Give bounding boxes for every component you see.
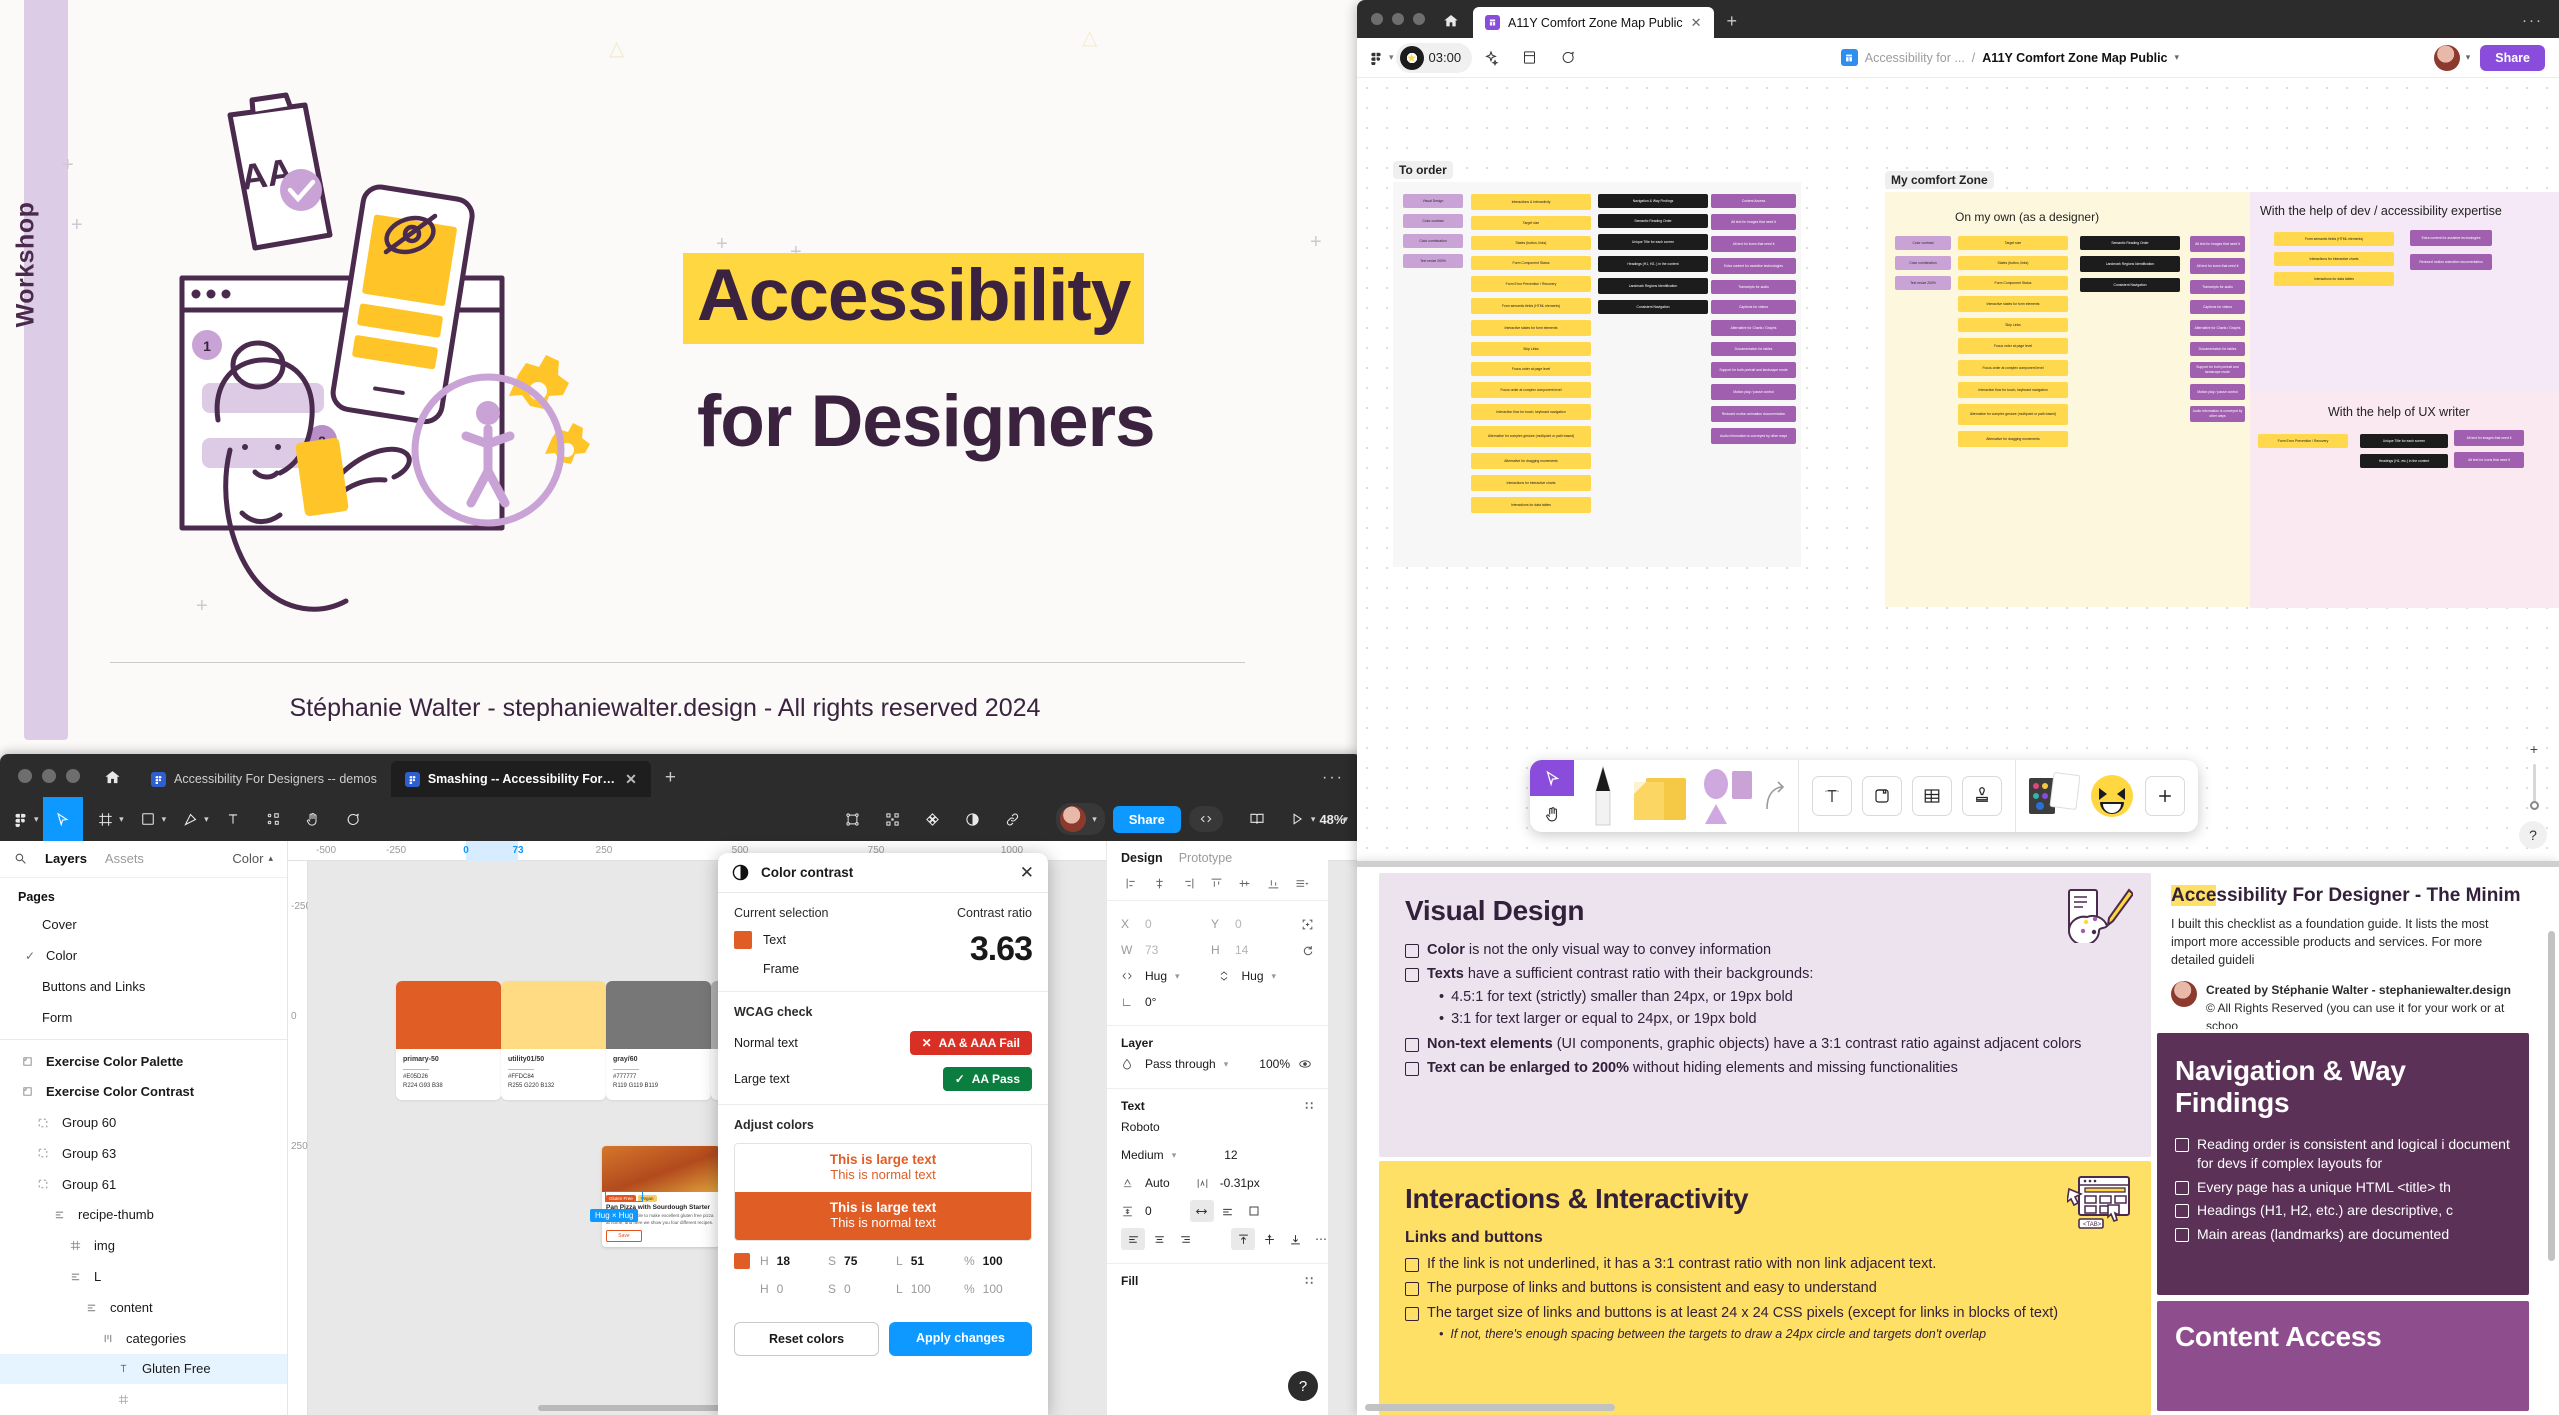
sticky-note[interactable]: Interaction flow for touch, keyboard nav… [1471, 404, 1591, 420]
sticky-note[interactable]: Transcripts for audio [1711, 280, 1796, 294]
chevron-down-icon[interactable]: ▾ [1389, 52, 1394, 63]
sticky-note[interactable]: Audio information is conveyed by other w… [1711, 428, 1796, 444]
y-field[interactable]: Y0 [1211, 911, 1301, 937]
sticky-note[interactable]: Motion play / pause control [1711, 384, 1796, 400]
shapes-tool-icon[interactable] [1702, 766, 1754, 826]
blend-mode-value[interactable]: Pass through [1145, 1057, 1216, 1071]
reset-colors-button[interactable]: Reset colors [734, 1322, 879, 1356]
sticky-note[interactable]: Skip Links [1958, 318, 2068, 332]
alignment-toolbar[interactable] [1107, 873, 1328, 901]
sticky-note[interactable]: Semantic Reading Order [1598, 214, 1708, 228]
checklist-item[interactable]: Main areas (landmarks) are documented [2175, 1225, 2511, 1244]
blend-opacity-row[interactable]: Pass through ▾ 100% [1121, 1050, 1314, 1078]
sticky-note[interactable]: Color contrast [1403, 214, 1463, 228]
rotation-value[interactable]: 0° [1145, 995, 1156, 1009]
sticky-note[interactable]: Alternative for dragging movements [1958, 431, 2068, 447]
figma-tab-1[interactable]: Accessibility For Designers -- demos [137, 761, 391, 797]
widgets-icon[interactable] [2028, 772, 2080, 820]
chevron-down-icon[interactable]: ▾ [2466, 52, 2471, 63]
sticky-note[interactable]: Interactions for interactive charts [2274, 252, 2394, 266]
frame-my-comfort-zone[interactable]: My comfort Zone On my own (as a designer… [1885, 192, 2250, 607]
sticky-note[interactable]: Consistent Navigation [1598, 300, 1708, 314]
plus-icon[interactable] [2145, 776, 2185, 816]
sat-value[interactable]: 75 [844, 1254, 857, 1268]
layer-group-63[interactable]: Group 63 [0, 1138, 287, 1169]
checklist-item[interactable]: Color is not the only visual way to conv… [1405, 941, 2125, 960]
line-height-value[interactable]: Auto [1145, 1176, 1170, 1190]
page-item-form[interactable]: Form [0, 1002, 287, 1033]
sticky-note[interactable]: Support for both portrait and landscape … [2190, 362, 2245, 378]
layer-group-61[interactable]: Group 61 [0, 1169, 287, 1200]
figjam-board[interactable]: To order Visual DesignColor contrastColo… [1357, 78, 2559, 861]
checkbox[interactable] [1405, 968, 1419, 982]
checklist-item[interactable]: If the link is not underlined, it has a … [1405, 1255, 2125, 1274]
fill-styles-icon[interactable]: ∷ [1305, 1274, 1314, 1288]
sticky-note[interactable]: Alt text for icons that need it [1711, 236, 1796, 252]
hsl-row-text[interactable]: H18 S75 L51 %100 [734, 1253, 1032, 1269]
fill-block[interactable]: Fill ∷ [1107, 1264, 1328, 1298]
sticky-note[interactable]: Color combination [1895, 256, 1951, 270]
cursor-tool-group[interactable] [1530, 760, 1574, 832]
content-access-card[interactable]: Content Access [2157, 1301, 2529, 1411]
library-icon[interactable] [1237, 797, 1277, 841]
component-tool-icon[interactable] [253, 797, 293, 841]
color-swatch-card[interactable]: utility01/50 #FFDC84 R255 G220 B132 [501, 981, 606, 1100]
new-tab-button[interactable]: + [651, 767, 690, 797]
design-panel-tabs[interactable]: Design Prototype [1107, 841, 1328, 873]
sticky-note[interactable]: Form Error Prevention / Recovery [2258, 434, 2348, 448]
breadcrumb-project[interactable]: Accessibility for ... [1865, 51, 1965, 65]
checklist-document[interactable]: Visual Design Color is not the only visu… [1357, 861, 2559, 1415]
auto-width-icon[interactable] [1190, 1200, 1214, 1222]
rotation-field[interactable]: 0° [1121, 989, 1218, 1015]
hug-width-value[interactable]: Hug [1145, 969, 1167, 983]
sticky-note[interactable]: Unique Title for each screen [1598, 234, 1708, 250]
layer-img[interactable]: img [0, 1230, 287, 1261]
shape-tool-icon[interactable] [128, 797, 168, 841]
checklist-item[interactable]: Texts have a sufficient contrast ratio w… [1405, 965, 2125, 984]
figjam-toolbar[interactable]: ▾ ★ 03:00 Accessibility for ... / A11Y C… [1357, 38, 2559, 78]
hue-value[interactable]: 18 [777, 1254, 790, 1268]
align-vertical-center-icon[interactable] [1238, 877, 1251, 890]
close-icon[interactable]: ✕ [625, 771, 637, 788]
sticky-note[interactable]: Form Error Prevention / Recovery [1471, 276, 1591, 292]
lum-value[interactable]: 100 [911, 1282, 931, 1296]
window-overflow-menu[interactable]: ··· [2522, 12, 2543, 29]
font-family-value[interactable]: Roboto [1121, 1120, 1160, 1134]
page-item-cover[interactable]: Cover [0, 910, 287, 941]
close-icon[interactable]: ✕ [1691, 15, 1702, 31]
letter-spacing-value[interactable]: -0.31px [1220, 1176, 1260, 1190]
sticky-note[interactable]: Alt text for images that need it [1711, 214, 1796, 230]
sticky-note[interactable]: Content Access [1711, 194, 1796, 208]
sticky-note[interactable]: Captions for videos [1711, 300, 1796, 314]
drawing-tools-group[interactable] [1574, 760, 1798, 832]
sticky-note[interactable]: Extra content for assistive technologies [1711, 258, 1796, 274]
layers-panel-tabs[interactable]: Layers Assets Color ▴ [0, 841, 287, 878]
checkbox[interactable] [1405, 944, 1419, 958]
sticky-note[interactable]: Transcripts for audio [2190, 280, 2245, 294]
distribute-menu-icon[interactable] [1295, 877, 1310, 890]
sticky-note[interactable]: Alt text for images that need it [2454, 430, 2524, 446]
window-overflow-menu[interactable]: ··· [1322, 769, 1344, 787]
x-field[interactable]: X0 [1121, 911, 1211, 937]
sticky-note[interactable]: Alt text for icons that need it [2190, 258, 2245, 274]
align-text-center-icon[interactable] [1147, 1228, 1171, 1250]
collaborator-avatar-menu[interactable]: ▾ [1056, 803, 1105, 835]
chevron-down-icon[interactable]: ▾ [1343, 814, 1348, 825]
sticky-note[interactable]: Alternative for complex gesture (multipo… [1958, 404, 2068, 425]
sticky-note[interactable]: Alt text for images that need it [2190, 236, 2245, 252]
color-contrast-plugin-icon[interactable] [952, 797, 992, 841]
tab-design[interactable]: Design [1121, 851, 1163, 865]
tab-assets[interactable]: Assets [105, 851, 144, 866]
sticky-note[interactable]: Interactions for data tables [2274, 272, 2394, 286]
sticky-note[interactable]: Visual Design [1403, 194, 1463, 208]
figma-toolbar[interactable]: ▾ ▾ ▾ ▾ ▾ [0, 797, 1362, 841]
align-text-middle-icon[interactable] [1257, 1228, 1281, 1250]
help-button[interactable]: ? [2519, 821, 2547, 849]
visual-design-card[interactable]: Visual Design Color is not the only visu… [1379, 873, 2151, 1157]
layer-exercise-color-palette[interactable]: Exercise Color Palette [0, 1046, 287, 1077]
connector-tool-icon[interactable] [1764, 779, 1786, 813]
sticky-note[interactable]: Interactive states for form elements [1958, 296, 2068, 312]
color-section-header[interactable]: Color ▴ [232, 851, 273, 866]
align-bottom-icon[interactable] [1267, 877, 1280, 890]
sticky-note[interactable]: Interactive states for form elements [1471, 320, 1591, 336]
sticky-note[interactable]: States (button, links) [1958, 256, 2068, 270]
sticky-note[interactable]: Interactions for interactive charts [1471, 475, 1591, 491]
w-value[interactable]: 73 [1145, 943, 1158, 957]
document-vertical-scrollbar[interactable] [2548, 931, 2555, 1261]
ruler-tick: 250 [596, 845, 613, 856]
sticky-note[interactable]: States (button, links) [1471, 236, 1591, 250]
align-text-top-icon[interactable] [1231, 1228, 1255, 1250]
checkbox[interactable] [2175, 1181, 2189, 1195]
checklist-item[interactable]: Reading order is consistent and logical … [2175, 1135, 2511, 1173]
font-style-size-row[interactable]: Medium ▾ 12 [1121, 1141, 1314, 1169]
paragraph-spacing-row[interactable]: 0 [1121, 1197, 1314, 1225]
sticky-note[interactable]: Interaction flow for touch, keyboard nav… [1958, 382, 2068, 398]
checkbox[interactable] [2175, 1138, 2189, 1152]
checkbox[interactable] [1405, 1062, 1419, 1076]
sticky-note[interactable]: Captions for videos [2190, 300, 2245, 314]
constrain-position-icon[interactable] [1301, 918, 1314, 931]
hue-value[interactable]: 0 [777, 1282, 784, 1296]
layer-content[interactable]: content [0, 1292, 287, 1323]
sticky-note[interactable]: Headings (H1, etc.) in the content [2360, 454, 2448, 468]
color-swatch-card[interactable]: gray/60 #777777 R119 G119 B119 [606, 981, 711, 1100]
font-weight-value[interactable]: Medium [1121, 1148, 1164, 1162]
sticky-note[interactable]: Consistent Navigation [2080, 278, 2180, 292]
position-size-block[interactable]: X0 Y0 W73 H14 Hug ▾ Hug ▾ 0° [1107, 901, 1328, 1026]
sticky-note[interactable]: Target size [1958, 236, 2068, 250]
paragraph-spacing-value[interactable]: 0 [1145, 1204, 1152, 1218]
chevron-down-icon[interactable]: ▾ [1272, 971, 1277, 982]
sticky-note[interactable]: Semantic Reading Order [2080, 236, 2180, 250]
sticky-note[interactable]: Reduced motion animation documentation [2410, 254, 2492, 270]
text-color-swatch[interactable] [734, 931, 752, 949]
document-horizontal-scrollbar[interactable] [1365, 1404, 1615, 1411]
tab-prototype[interactable]: Prototype [1179, 851, 1233, 865]
sections-icon[interactable] [1510, 38, 1548, 78]
alpha-value[interactable]: 100 [983, 1282, 1003, 1296]
hug-width-field[interactable]: Hug ▾ [1121, 963, 1218, 989]
figjam-bottom-toolbar[interactable] [1530, 760, 2198, 832]
sticky-note[interactable]: Interactions for data tables [1471, 497, 1591, 513]
height-field[interactable]: H14 [1211, 937, 1301, 963]
align-right-icon[interactable] [1182, 877, 1195, 890]
cursor-tool-icon[interactable] [1530, 760, 1574, 796]
checkbox[interactable] [1405, 1038, 1419, 1052]
text-more-options-icon[interactable]: ⋯ [1315, 1232, 1328, 1246]
align-top-icon[interactable] [1210, 877, 1223, 890]
components-icon[interactable] [912, 797, 952, 841]
sticky-note[interactable]: Reduced motion animation documentation [1711, 406, 1796, 422]
layer-block[interactable]: Layer Pass through ▾ 100% [1107, 1026, 1328, 1089]
stamp-tool-icon[interactable] [1962, 776, 2002, 816]
zoom-slider-handle[interactable] [2530, 801, 2539, 810]
auto-height-icon[interactable] [1216, 1200, 1240, 1222]
section-tool-icon[interactable] [1862, 776, 1902, 816]
x-value[interactable]: 0 [1145, 917, 1152, 931]
chevron-down-icon[interactable]: ▾ [2175, 52, 2180, 63]
sticky-note[interactable]: Focus order at page level [1958, 338, 2068, 354]
y-value[interactable]: 0 [1235, 917, 1242, 931]
timer-widget[interactable]: ★ 03:00 [1396, 43, 1473, 73]
avatar[interactable] [2434, 45, 2460, 71]
hand-tool-icon[interactable] [1530, 796, 1574, 832]
sticky-note[interactable]: Target size [1471, 216, 1591, 230]
hand-tool-icon[interactable] [293, 797, 333, 841]
checkbox[interactable] [2175, 1204, 2189, 1218]
hsl-swatch[interactable] [734, 1281, 750, 1297]
chevron-down-icon[interactable]: ▾ [1175, 971, 1180, 982]
chevron-down-icon[interactable]: ▾ [1092, 814, 1097, 825]
pen-tool-icon[interactable] [1590, 765, 1616, 827]
table-tool-icon[interactable] [1912, 776, 1952, 816]
sticky-note[interactable]: Headings (H1, H2..) in the content [1598, 256, 1708, 272]
sticky-note[interactable]: Focus order at complex component level [1958, 360, 2068, 376]
lum-value[interactable]: 51 [911, 1254, 924, 1268]
pages-header: Pages [0, 878, 287, 910]
breadcrumb-file[interactable]: A11Y Comfort Zone Map Public [1982, 51, 2167, 65]
checklist-item[interactable]: The target size of links and buttons is … [1405, 1304, 2125, 1323]
sticky-note[interactable]: Alternative for Charts / Graphs [1711, 320, 1796, 336]
selection-text-row[interactable]: Text [734, 931, 912, 949]
home-icon[interactable] [94, 769, 137, 797]
link-icon[interactable] [992, 797, 1032, 841]
text-styles-icon[interactable]: ∷ [1305, 1099, 1314, 1113]
sticky-note[interactable]: Landmark Regions Identification [1598, 278, 1708, 294]
checklist-item[interactable]: Text can be enlarged to 200% without hid… [1405, 1059, 2125, 1078]
move-tool-icon[interactable] [43, 797, 83, 841]
text-block[interactable]: Text ∷ Roboto Medium ▾ 12 Auto -0.31px 0 [1107, 1089, 1328, 1264]
sticky-note[interactable]: Color contrast [1895, 236, 1951, 250]
figjam-window[interactable]: A11Y Comfort Zone Map Public ✕ + ··· ▾ ★… [1357, 0, 2559, 861]
resize-vertical-icon [1218, 970, 1234, 982]
visual-design-heading: Visual Design [1405, 895, 2125, 927]
sticky-note[interactable]: Form Component Status [1958, 276, 2068, 290]
chevron-down-icon[interactable]: ▾ [1172, 1150, 1177, 1161]
frame-dev-help[interactable]: With the help of dev / accessibility exp… [2250, 192, 2559, 392]
sticky-note[interactable]: Motion play / pause control [2190, 384, 2245, 400]
sticky-note[interactable]: Focus order at page level [1471, 362, 1591, 376]
figjam-tab[interactable]: A11Y Comfort Zone Map Public ✕ [1473, 7, 1714, 38]
checklist-item[interactable]: Headings (H1, H2, etc.) are descriptive,… [2175, 1201, 2511, 1220]
frame-color-swatch[interactable] [734, 960, 752, 978]
sticky-note[interactable]: Skip Links [1471, 342, 1591, 356]
sticky-note[interactable]: Focus order at complex component level [1471, 382, 1591, 398]
widgets-group[interactable] [2016, 760, 2198, 832]
hug-height-value[interactable]: Hug [1242, 969, 1264, 983]
sticky-note[interactable]: Alt text for icons that need it [2454, 452, 2524, 468]
frame-ux-writer[interactable]: With the help of UX writer Form Error Pr… [2250, 392, 2559, 608]
navigation-card[interactable]: Navigation & Way Findings Reading order … [2157, 1033, 2529, 1295]
layer-l[interactable]: L [0, 1261, 287, 1292]
share-button[interactable]: Share [2480, 45, 2545, 71]
zoom-in-button[interactable]: + [2523, 738, 2545, 760]
apply-changes-button[interactable]: Apply changes [889, 1322, 1032, 1356]
close-icon[interactable]: ✕ [1020, 863, 1034, 883]
selection-frame-row[interactable]: Frame [734, 960, 912, 978]
window-traffic-lights[interactable] [0, 769, 94, 797]
sticky-note[interactable]: Form Component Status [1471, 256, 1591, 270]
contrast-ratio-label: Contrast ratio [912, 906, 1032, 920]
tab-layers[interactable]: Layers [45, 851, 87, 866]
frame-title[interactable]: My comfort Zone [1885, 171, 1994, 189]
sticky-note[interactable]: Text resize 200% [1895, 276, 1951, 290]
sticky-note[interactable]: Interactions & Interactivity [1471, 194, 1591, 210]
checkbox[interactable] [2175, 1228, 2189, 1242]
code-icon[interactable] [1189, 806, 1223, 832]
font-family-row[interactable]: Roboto [1121, 1113, 1314, 1141]
sticky-note[interactable]: Alternative for Charts / Graphs [2190, 320, 2245, 336]
insert-tools-group[interactable] [1799, 760, 2015, 832]
layer-recipe-thumb[interactable]: recipe-thumb [0, 1200, 287, 1231]
reset-size-icon[interactable] [1301, 944, 1314, 957]
layer-next-partial[interactable] [0, 1384, 287, 1415]
layer-categories[interactable]: categories [0, 1323, 287, 1354]
sticky-note[interactable]: Landmark Regions Identification [2080, 256, 2180, 272]
hug-height-field[interactable]: Hug ▾ [1218, 963, 1315, 989]
sticky-note[interactable]: Documentation for tables [2190, 342, 2245, 356]
window-traffic-lights[interactable] [1357, 13, 1437, 38]
color-swatch-card[interactable]: primary-50 #E05D26 R224 G93 B38 [396, 981, 501, 1100]
sticky-note[interactable]: Form semantic fields (HTML elements) [2274, 232, 2394, 246]
ai-sparkle-icon[interactable] [1472, 38, 1510, 78]
align-horizontal-center-icon[interactable] [1153, 877, 1166, 890]
swatch-chip [501, 981, 606, 1049]
sticky-note[interactable]: Unique Title for each screen [2360, 434, 2448, 448]
figma-tab-2[interactable]: Smashing -- Accessibility For Des ✕ [391, 761, 651, 797]
plugins-icon[interactable] [872, 797, 912, 841]
h-value[interactable]: 14 [1235, 943, 1248, 957]
intro-card[interactable]: AcceAccessibility For Designer - The Min… [2157, 869, 2529, 1029]
hsl-row-frame[interactable]: H0 S0 L100 %100 [734, 1281, 1032, 1297]
sticky-note[interactable]: Navigation & Way Findings [1598, 194, 1708, 208]
comment-tool-icon[interactable] [333, 797, 373, 841]
figma-menu-icon[interactable] [0, 797, 40, 841]
checkbox[interactable] [1405, 1282, 1419, 1296]
pass-icon: ✓ [955, 1072, 965, 1086]
color-contrast-plugin-dialog[interactable]: Color contrast ✕ Current selection Text … [718, 853, 1048, 1415]
layer-gluten-free[interactable]: Gluten Free [0, 1354, 287, 1385]
swatch-chip [396, 981, 501, 1049]
sticky-note-tool-icon[interactable] [1632, 768, 1688, 824]
checkbox[interactable] [1405, 1258, 1419, 1272]
checklist-item[interactable]: Non-text elements (UI components, graphi… [1405, 1035, 2125, 1054]
checklist-item[interactable]: The purpose of links and buttons is cons… [1405, 1279, 2125, 1298]
frame-title[interactable]: To order [1393, 161, 1453, 179]
emoji-reaction-icon[interactable] [2088, 772, 2136, 820]
vector-edit-icon[interactable] [832, 797, 872, 841]
text-alignment-row[interactable]: ⋯ [1121, 1225, 1314, 1253]
text-tool-icon[interactable] [1812, 776, 1852, 816]
width-field[interactable]: W73 [1121, 937, 1211, 963]
pen-tool-icon[interactable] [170, 797, 210, 841]
chevron-up-icon[interactable]: ▴ [268, 853, 273, 864]
home-icon[interactable] [1437, 13, 1473, 38]
frame-tool-icon[interactable] [85, 797, 125, 841]
figma-design-panel[interactable]: Design Prototype X0 Y0 W73 H14 Hug ▾ [1106, 841, 1328, 1415]
help-button[interactable]: ? [1288, 1371, 1318, 1401]
opacity-value[interactable]: 100% [1259, 1057, 1290, 1071]
align-text-right-icon[interactable] [1173, 1228, 1197, 1250]
layer-exercise-color-contrast[interactable]: Exercise Color Contrast [0, 1076, 287, 1107]
align-text-bottom-icon[interactable] [1283, 1228, 1307, 1250]
comment-icon[interactable] [1548, 38, 1586, 78]
search-icon[interactable] [14, 852, 27, 865]
present-icon[interactable] [1277, 797, 1317, 841]
checklist-item[interactable]: Every page has a unique HTML <title> th [2175, 1178, 2511, 1197]
chevron-down-icon[interactable]: ▾ [1224, 1059, 1229, 1070]
sticky-note[interactable]: Form semantic fields (HTML elements) [1471, 298, 1591, 314]
figma-layers-panel[interactable]: Layers Assets Color ▴ Pages Cover ✓ Colo… [0, 841, 288, 1415]
frame-to-order[interactable]: To order Visual DesignColor contrastColo… [1393, 182, 1801, 567]
line-height-letter-spacing-row[interactable]: Auto -0.31px [1121, 1169, 1314, 1197]
align-left-icon[interactable] [1125, 877, 1138, 890]
breadcrumb[interactable]: Accessibility for ... / A11Y Comfort Zon… [1841, 49, 2179, 66]
checkbox[interactable] [1405, 1307, 1419, 1321]
zoom-slider[interactable] [2533, 764, 2536, 810]
sticky-note[interactable]: Color combination [1403, 234, 1463, 248]
sticky-note[interactable]: Audio information is conveyed by other w… [2190, 406, 2245, 422]
new-tab-button[interactable]: + [1714, 11, 1751, 38]
sticky-note[interactable]: Alternative for complex gesture (multipo… [1471, 426, 1591, 447]
marker-1-label: 1 [203, 338, 211, 354]
sticky-note[interactable]: Documentation for tables [1711, 342, 1796, 356]
page-item-color[interactable]: ✓ Color [0, 940, 287, 971]
sticky-note[interactable]: Alternative for dragging movements [1471, 453, 1591, 469]
sticky-note[interactable]: Text resize 200% [1403, 254, 1463, 268]
interactions-card[interactable]: Interactions & Interactivity <TAB> Links… [1379, 1161, 2151, 1415]
sticky-note[interactable]: Support for both portrait and landscape … [1711, 362, 1796, 378]
hsl-swatch[interactable] [734, 1253, 750, 1269]
align-text-left-icon[interactable] [1121, 1228, 1145, 1250]
fixed-size-icon[interactable] [1242, 1200, 1266, 1222]
alpha-value[interactable]: 100 [983, 1254, 1003, 1268]
visibility-eye-icon[interactable] [1298, 1057, 1314, 1071]
sat-value[interactable]: 0 [844, 1282, 851, 1296]
page-item-buttons-and-links[interactable]: Buttons and Links [0, 971, 287, 1002]
share-button[interactable]: Share [1113, 806, 1181, 833]
text-tool-icon[interactable] [213, 797, 253, 841]
font-size-value[interactable]: 12 [1224, 1148, 1237, 1162]
layer-group-60[interactable]: Group 60 [0, 1107, 287, 1138]
recipe-save-button[interactable]: Save [606, 1230, 642, 1242]
sticky-note[interactable]: Extra content for assistive technologies [2410, 230, 2492, 246]
